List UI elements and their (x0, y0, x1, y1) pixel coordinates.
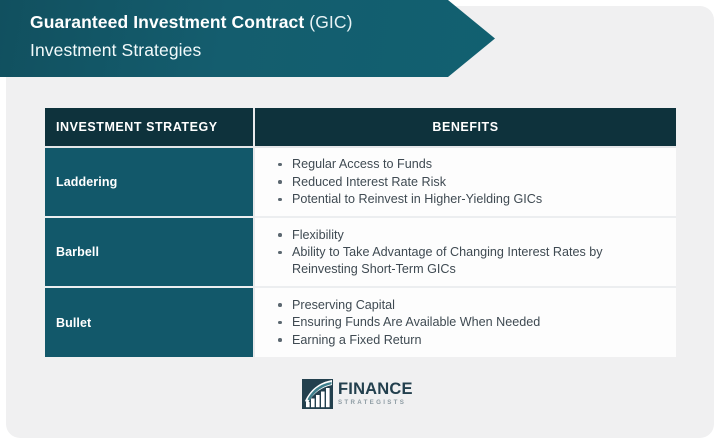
page-title-strong: Guaranteed Investment Contract (30, 12, 304, 32)
table-row: Bullet Preserving Capital Ensuring Funds… (45, 287, 676, 357)
benefits-cell-barbell: Flexibility Ability to Take Advantage of… (254, 217, 676, 287)
list-item: Flexibility (276, 227, 662, 244)
header-banner-text: Guaranteed Investment Contract (GIC) Inv… (30, 8, 460, 65)
finance-strategists-chart-icon (302, 379, 333, 409)
page-title: Guaranteed Investment Contract (GIC) (30, 8, 460, 36)
list-item: Reduced Interest Rate Risk (276, 174, 662, 191)
header-banner: Guaranteed Investment Contract (GIC) Inv… (0, 0, 500, 77)
finance-strategists-logo: FINANCE STRATEGISTS (302, 378, 422, 410)
strategy-name-bullet: Bullet (45, 287, 254, 357)
benefits-cell-bullet: Preserving Capital Ensuring Funds Are Av… (254, 287, 676, 357)
list-item: Earning a Fixed Return (276, 332, 662, 349)
table-header: INVESTMENT STRATEGY BENEFITS (45, 108, 676, 147)
strategy-name-laddering: Laddering (45, 147, 254, 217)
list-item: Ensuring Funds Are Available When Needed (276, 314, 662, 331)
logo-wordmark: FINANCE STRATEGISTS (338, 381, 413, 407)
table-row: Barbell Flexibility Ability to Take Adva… (45, 217, 676, 287)
column-header-investment-strategy: INVESTMENT STRATEGY (45, 108, 254, 147)
logo-secondary-text: STRATEGISTS (338, 398, 413, 407)
page-subtitle: Investment Strategies (30, 36, 460, 65)
benefits-list: Preserving Capital Ensuring Funds Are Av… (276, 297, 662, 349)
logo-primary-text: FINANCE (338, 381, 413, 397)
page-title-abbreviation: (GIC) (304, 12, 352, 32)
list-item: Ability to Take Advantage of Changing In… (276, 244, 662, 277)
list-item: Potential to Reinvest in Higher-Yielding… (276, 191, 662, 208)
benefits-list: Regular Access to Funds Reduced Interest… (276, 156, 662, 208)
benefits-cell-laddering: Regular Access to Funds Reduced Interest… (254, 147, 676, 217)
investment-strategies-table: INVESTMENT STRATEGY BENEFITS Laddering R… (45, 108, 676, 357)
column-header-benefits: BENEFITS (254, 108, 676, 147)
list-item: Preserving Capital (276, 297, 662, 314)
benefits-list: Flexibility Ability to Take Advantage of… (276, 227, 662, 278)
table-header-row: INVESTMENT STRATEGY BENEFITS (45, 108, 676, 147)
table-row: Laddering Regular Access to Funds Reduce… (45, 147, 676, 217)
list-item: Regular Access to Funds (276, 156, 662, 173)
strategy-name-barbell: Barbell (45, 217, 254, 287)
table-body: Laddering Regular Access to Funds Reduce… (45, 147, 676, 357)
